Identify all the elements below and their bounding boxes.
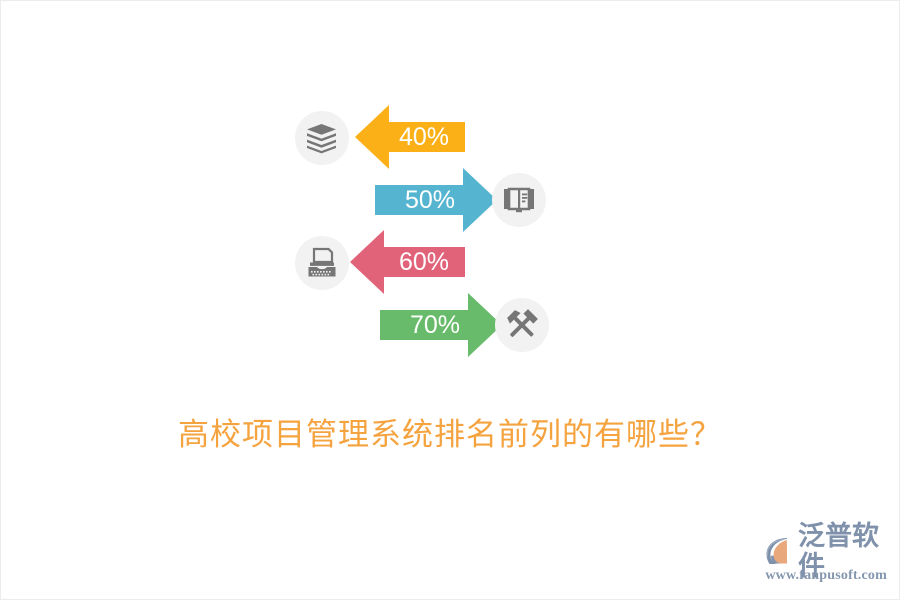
books-stack-icon xyxy=(305,121,339,155)
infographic-canvas: 40% 50% xyxy=(0,0,900,600)
arrow-row-3: 60% xyxy=(350,230,465,294)
typewriter-icon xyxy=(305,246,339,280)
fanpu-logo-mark-icon xyxy=(765,536,795,566)
brand-logo[interactable]: 泛普软件 www.fanpusoft.com xyxy=(765,535,887,587)
logo-row: 泛普软件 xyxy=(765,535,887,567)
icon-circle-books-stack xyxy=(295,111,349,165)
page-title: 高校项目管理系统排名前列的有哪些？ xyxy=(1,409,899,454)
logo-website-url: www.fanpusoft.com xyxy=(765,567,887,584)
arrow-row-1: 40% xyxy=(355,105,465,169)
arrow-row-2: 50% xyxy=(375,168,497,232)
arrow-label-60: 60% xyxy=(399,230,449,294)
icon-circle-open-book xyxy=(492,173,546,227)
arrow-label-40: 40% xyxy=(399,105,449,169)
open-book-icon xyxy=(502,183,536,217)
icon-circle-typewriter xyxy=(295,236,349,290)
arrow-label-70: 70% xyxy=(410,293,460,357)
crossed-hammers-icon xyxy=(504,307,540,343)
icon-circle-crossed-hammers xyxy=(495,298,549,352)
arrow-row-4: 70% xyxy=(380,293,502,357)
arrow-label-50: 50% xyxy=(405,168,455,232)
